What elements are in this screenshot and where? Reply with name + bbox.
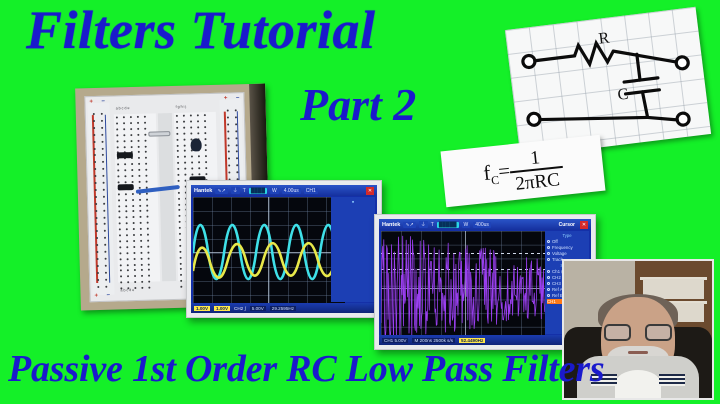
channel-label: CH1 [304, 188, 318, 194]
fft-frequency-readout: 52.4490Hz [459, 338, 485, 343]
radio-icon [547, 276, 550, 279]
cursor-menu-title: Cursor [559, 222, 575, 228]
memory-depth-bar: ████ [249, 188, 267, 194]
run-state-icon[interactable]: W [270, 188, 279, 194]
trigger-level: 5.00V [250, 306, 266, 311]
radio-icon [547, 288, 550, 291]
timebase-value: 400us [473, 222, 491, 228]
radio-icon [547, 258, 550, 261]
scope-waveform-side-panel: ● [331, 197, 375, 302]
waveform-traces-svg [193, 197, 345, 309]
scope-fft-graticule [381, 231, 545, 341]
radio-icon [547, 270, 550, 273]
scope-waveform-graticule [193, 197, 345, 309]
page-title: Filters Tutorial [26, 2, 376, 58]
presenter-mouth [628, 351, 648, 354]
capacitor-label: C [617, 86, 630, 105]
scope-waveform-screen: Hantek ∿↗ ⏚ T ████ W 4.00us CH1 ✕ [191, 185, 377, 313]
cursor-type-voltage[interactable]: Voltage [547, 251, 587, 256]
memory-depth-bar: █████ [437, 222, 459, 228]
video-thumbnail: Filters Tutorial Part 2 R C [0, 0, 720, 404]
oscilloscope-waveform: Hantek ∿↗ ⏚ T ████ W 4.00us CH1 ✕ [186, 180, 382, 318]
formula-numerator: 1 [523, 147, 546, 169]
fft-timebase-readout: M 200ns 2500k s/s [412, 338, 455, 343]
radio-icon [547, 240, 550, 243]
scope-fft-screen: Hantek ∿↗ ⏚ T █████ W 400us Cursor ✕ Typ… [379, 219, 591, 345]
close-icon[interactable]: ✕ [366, 187, 374, 195]
trigger-label: T [431, 222, 434, 228]
subtitle: Passive 1st Order RC Low Pass Filters [8, 347, 604, 391]
cutoff-frequency-formula-card: fC= 1 2πRC [441, 135, 606, 207]
capacitor-component [190, 138, 201, 151]
run-state-icon[interactable]: W [462, 222, 471, 228]
trigger-mode-icon[interactable]: ∿↗ [403, 222, 415, 228]
presenter-shirt [615, 370, 661, 398]
fft-noise-path [381, 236, 545, 339]
cursor-type-off[interactable]: Off [547, 239, 587, 244]
trigger-mode-icon[interactable]: ∿↗ [215, 188, 227, 194]
scope-waveform-topbar: Hantek ∿↗ ⏚ T ████ W 4.00us CH1 ✕ [191, 185, 377, 196]
scope-fft-topbar: Hantek ∿↗ ⏚ T █████ W 400us Cursor ✕ [379, 219, 591, 230]
black-jumper-1 [117, 152, 133, 158]
scope-brand-label: Hantek [382, 222, 400, 228]
trace-output-yellow [193, 243, 345, 277]
cursor-type-group-label: Type [547, 233, 587, 238]
close-icon[interactable]: ✕ [580, 221, 588, 229]
circuit-schematic-card: R C [505, 7, 711, 157]
black-jumper-2 [118, 184, 134, 190]
scope-waveform-statusbar: 1.00V 1.00V CH2 ∫ 5.00V 29.2595Hz [191, 303, 377, 313]
formula-denominator: 2πRC [510, 165, 565, 193]
resistor-label: R [598, 30, 611, 49]
scope-brand-label: Hantek [194, 188, 212, 194]
trigger-source-icon: CH2 ∫ [234, 306, 246, 311]
radio-icon [547, 252, 550, 255]
ch1-volts-div: 1.00V [194, 306, 210, 311]
cursor-type-frequency[interactable]: Frequency [547, 245, 587, 250]
frequency-readout: 29.2595Hz [270, 306, 296, 311]
radio-icon [547, 282, 550, 285]
radio-icon [547, 246, 550, 249]
part-title: Part 2 [300, 78, 416, 131]
resistor-component [148, 131, 170, 137]
ch2-volts-div: 1.00V [214, 306, 230, 311]
timebase-value: 4.00us [282, 188, 301, 194]
fft-noise-trace-svg [381, 231, 545, 341]
glasses-icon [604, 324, 672, 341]
trigger-label: T [243, 188, 246, 194]
radio-icon [547, 294, 550, 297]
trigger-slope-icon[interactable]: ⏚ [231, 187, 240, 194]
formula-fraction: 1 2πRC [508, 145, 565, 193]
fft-ch1-readout: CH1 5.00V [382, 338, 408, 343]
trigger-slope-icon[interactable]: ⏚ [419, 221, 428, 228]
formula-lhs: fC= [482, 158, 512, 189]
scope-fft-statusbar: CH1 5.00V M 200ns 2500k s/s 52.4490Hz [379, 335, 591, 345]
